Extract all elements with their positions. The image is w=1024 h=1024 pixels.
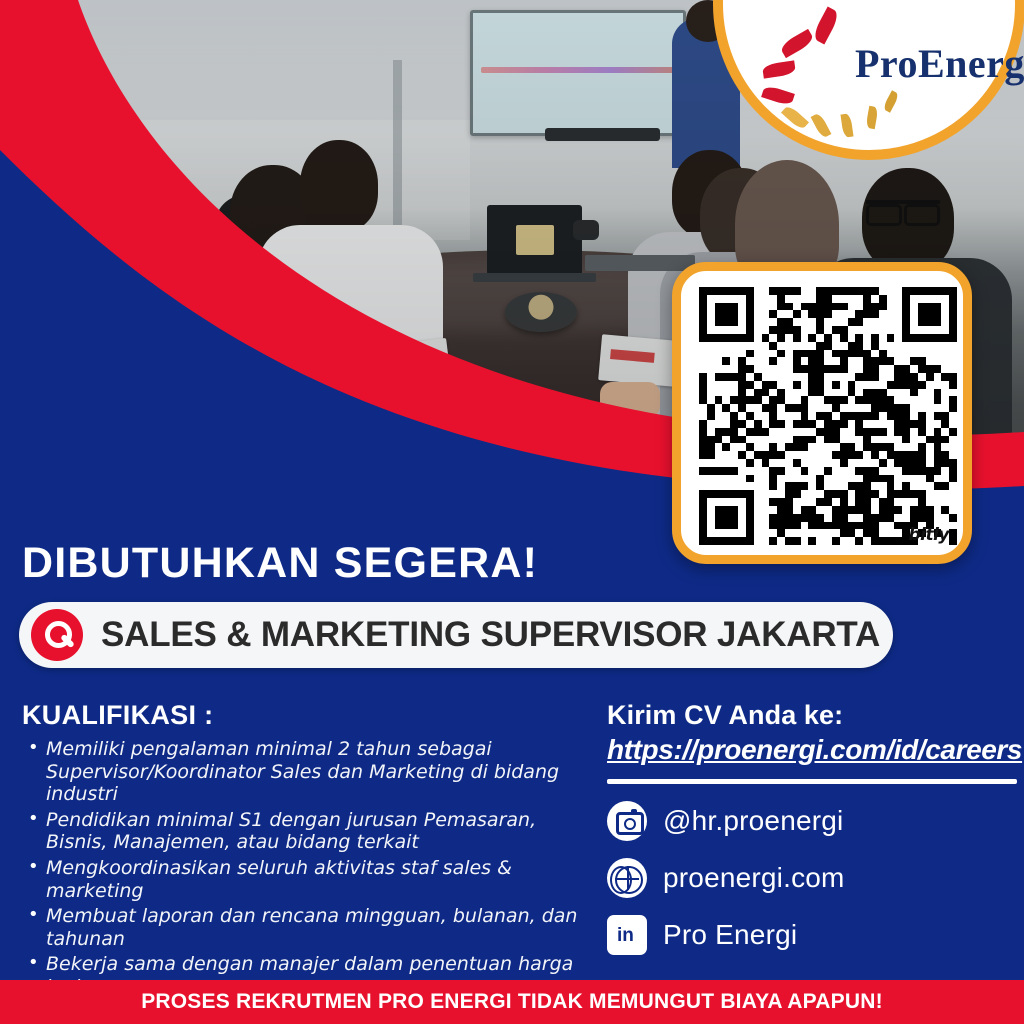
website-url: proenergi.com xyxy=(663,862,845,894)
linkedin-icon: in xyxy=(607,915,647,955)
headline: DIBUTUHKAN SEGERA! xyxy=(22,539,538,588)
linkedin-name: Pro Energi xyxy=(663,919,797,951)
instagram-icon xyxy=(607,801,647,841)
qr-code-image xyxy=(699,287,957,545)
careers-url[interactable]: https://proenergi.com/id/careers xyxy=(607,734,1017,766)
qualification-item: Mengkoordinasikan seluruh aktivitas staf… xyxy=(46,857,582,902)
globe-icon xyxy=(607,858,647,898)
job-poster: ProEnergi bitly DIBUTUHKAN SEGERA! SALES… xyxy=(0,0,1024,1024)
cv-label: Kirim CV Anda ke: xyxy=(607,700,1017,731)
proenergi-logo: ProEnergi xyxy=(760,8,1024,128)
divider xyxy=(607,779,1017,784)
qualification-item: Memiliki pengalaman minimal 2 tahun seba… xyxy=(46,738,582,806)
social-website[interactable]: proenergi.com xyxy=(607,858,1017,898)
logo-wordmark: ProEnergi xyxy=(855,40,1024,87)
qualification-item: Pendidikan minimal S1 dengan jurusan Pem… xyxy=(46,809,582,854)
bitly-label: bitly xyxy=(908,525,949,545)
contact-section: Kirim CV Anda ke: https://proenergi.com/… xyxy=(607,700,1017,955)
footer-notice: PROSES REKRUTMEN PRO ENERGI TIDAK MEMUNG… xyxy=(141,990,883,1014)
social-instagram[interactable]: @hr.proenergi xyxy=(607,801,1017,841)
social-linkedin[interactable]: in Pro Energi xyxy=(607,915,1017,955)
qualifications-section: KUALIFIKASI : Memiliki pengalaman minima… xyxy=(22,700,582,1024)
qualifications-heading: KUALIFIKASI : xyxy=(22,700,582,731)
qr-code-card[interactable]: bitly xyxy=(672,262,972,564)
search-icon xyxy=(31,609,83,661)
instagram-handle: @hr.proenergi xyxy=(663,805,843,837)
footer-notice-bar: PROSES REKRUTMEN PRO ENERGI TIDAK MEMUNG… xyxy=(0,980,1024,1024)
qualification-item: Membuat laporan dan rencana mingguan, bu… xyxy=(46,905,582,950)
job-title-pill: SALES & MARKETING SUPERVISOR JAKARTA xyxy=(19,602,893,668)
job-title: SALES & MARKETING SUPERVISOR JAKARTA xyxy=(101,615,880,655)
